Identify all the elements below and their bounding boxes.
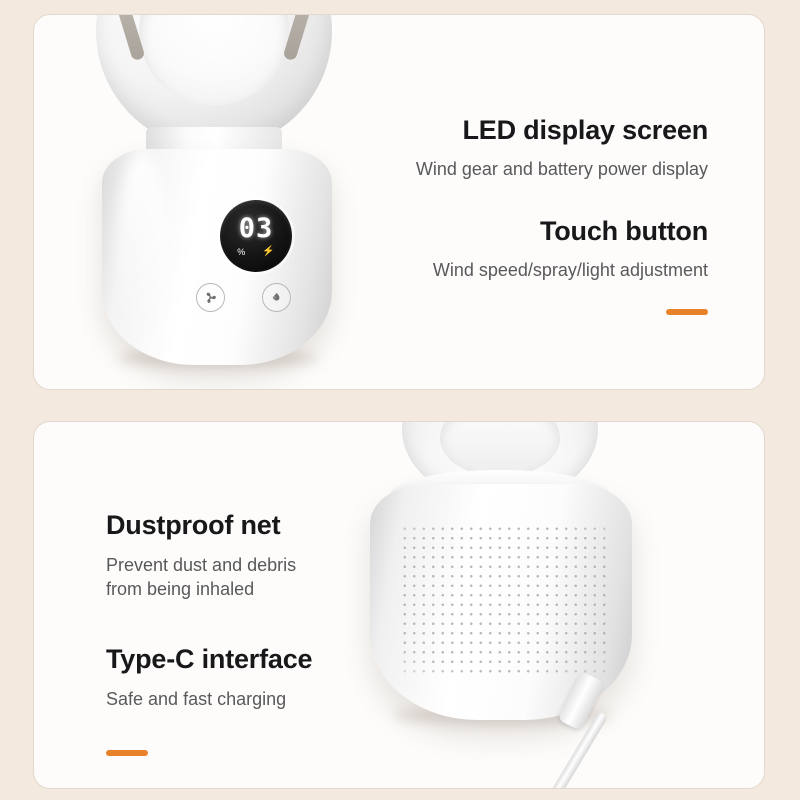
accent-bar-bottom: [106, 750, 148, 756]
water-drop-icon: [269, 290, 284, 305]
accent-bar-wrap-top: [416, 309, 708, 315]
feature-text-group-dustproof-typec: Dustproof net Prevent dust and debris fr…: [106, 510, 312, 756]
feature-subtext-type-c: Safe and fast charging: [106, 688, 312, 712]
product-image-fan-led: 03 % ⚡: [34, 14, 394, 389]
led-display-screen: 03 % ⚡: [220, 200, 292, 272]
product-feature-page: 03 % ⚡: [0, 0, 800, 800]
feature-subtext-led-display: Wind gear and battery power display: [416, 158, 708, 182]
feature-text-group-led-touch: LED display screen Wind gear and battery…: [416, 115, 708, 315]
product-image-fan-mesh: [330, 421, 730, 788]
accent-bar-wrap-bottom: [106, 750, 312, 756]
fan-icon: [203, 290, 218, 305]
accent-bar-top: [666, 309, 708, 315]
spray-touch-button[interactable]: [262, 283, 291, 312]
fan-ring-inner: [139, 14, 289, 106]
fan-ring-inner-bottom: [440, 421, 560, 477]
charging-bolt-icon: ⚡: [262, 247, 274, 257]
percent-icon: %: [237, 248, 245, 257]
led-display-value: 03: [239, 215, 274, 242]
fan-speed-touch-button[interactable]: [196, 283, 225, 312]
led-indicator-row: % ⚡: [237, 247, 274, 257]
dustproof-mesh: [400, 524, 606, 674]
feature-heading-dustproof-net: Dustproof net: [106, 510, 312, 541]
feature-card-dustproof-typec: Dustproof net Prevent dust and debris fr…: [33, 421, 765, 789]
feature-heading-touch-button: Touch button: [416, 216, 708, 247]
feature-subtext-dustproof-net: Prevent dust and debris from being inhal…: [106, 554, 312, 602]
feature-card-led-touch: 03 % ⚡: [33, 14, 765, 390]
feature-heading-led-display: LED display screen: [416, 115, 708, 146]
feature-subtext-touch-button: Wind speed/spray/light adjustment: [416, 259, 708, 283]
fan-body: [102, 149, 332, 365]
feature-heading-type-c: Type-C interface: [106, 644, 312, 675]
